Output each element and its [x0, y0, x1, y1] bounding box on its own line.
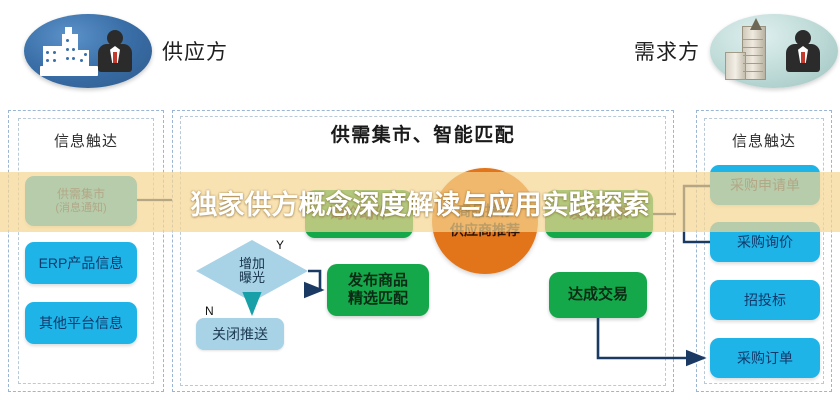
left-panel-title: 信息触达	[8, 130, 164, 151]
right-panel-title: 信息触达	[696, 130, 832, 151]
product-recommend-label: 商品推荐	[457, 202, 513, 221]
right-item-2-label: 招投标	[744, 292, 786, 308]
person-icon	[98, 30, 132, 72]
right-item-0-label: 采购申请单	[730, 177, 800, 193]
publish-demand-label: 发布需求	[569, 205, 629, 223]
decision-line2: 曝光	[239, 271, 265, 285]
supplier-actor: 供应方	[24, 14, 228, 88]
right-item-2[interactable]: 招投标	[710, 280, 820, 320]
building-person-icon	[710, 14, 838, 88]
right-item-1[interactable]: 采购询价	[710, 222, 820, 262]
center-panel-title: 供需集市、智能匹配	[172, 120, 674, 147]
person-icon	[786, 30, 820, 72]
publish-goods-match-box[interactable]: 发布商品 精选匹配	[327, 264, 429, 316]
demander-actor: 需求方	[634, 14, 838, 88]
factory-person-icon	[24, 14, 152, 88]
yes-branch-label: Y	[276, 238, 284, 252]
close-push-label: 关闭推送	[212, 324, 268, 344]
left-item-0-sublabel: (消息通知)	[55, 202, 106, 215]
left-item-2-label: 其他平台信息	[39, 315, 123, 331]
inquiry-action-label: 询价动作	[329, 205, 389, 223]
left-item-0[interactable]: 供需集市 (消息通知)	[25, 176, 137, 226]
diagram-canvas: 供应方 需求方 信息触达 供需集市 (消息通知) ERP产品信息	[0, 0, 840, 400]
right-item-0[interactable]: 采购申请单	[710, 165, 820, 205]
decision-line1: 增加	[239, 257, 265, 271]
supplier-recommend-label: 供应商推荐	[450, 221, 520, 240]
supplier-label: 供应方	[162, 36, 228, 66]
right-item-3-label: 采购订单	[737, 350, 793, 366]
publish-goods-line2: 精选匹配	[348, 290, 408, 308]
publish-goods-line1: 发布商品	[348, 272, 408, 290]
close-push-box[interactable]: 关闭推送	[196, 318, 284, 350]
deal-done-box[interactable]: 达成交易	[549, 272, 647, 318]
left-item-1-label: ERP产品信息	[39, 255, 124, 271]
factory-icon	[40, 28, 98, 76]
deal-done-label: 达成交易	[568, 286, 628, 304]
recommendation-circle[interactable]: 商品推荐 供应商推荐	[432, 168, 538, 274]
demander-label: 需求方	[634, 36, 700, 66]
publish-demand-box[interactable]: 发布需求	[545, 190, 653, 238]
left-item-2[interactable]: 其他平台信息	[25, 302, 137, 344]
left-item-1[interactable]: ERP产品信息	[25, 242, 137, 284]
right-item-3[interactable]: 采购订单	[710, 338, 820, 378]
building-icon	[724, 18, 776, 80]
right-item-1-label: 采购询价	[737, 234, 793, 250]
inquiry-action-box[interactable]: 询价动作	[305, 190, 413, 238]
no-branch-label: N	[205, 304, 214, 318]
left-item-0-label: 供需集市	[57, 188, 105, 202]
